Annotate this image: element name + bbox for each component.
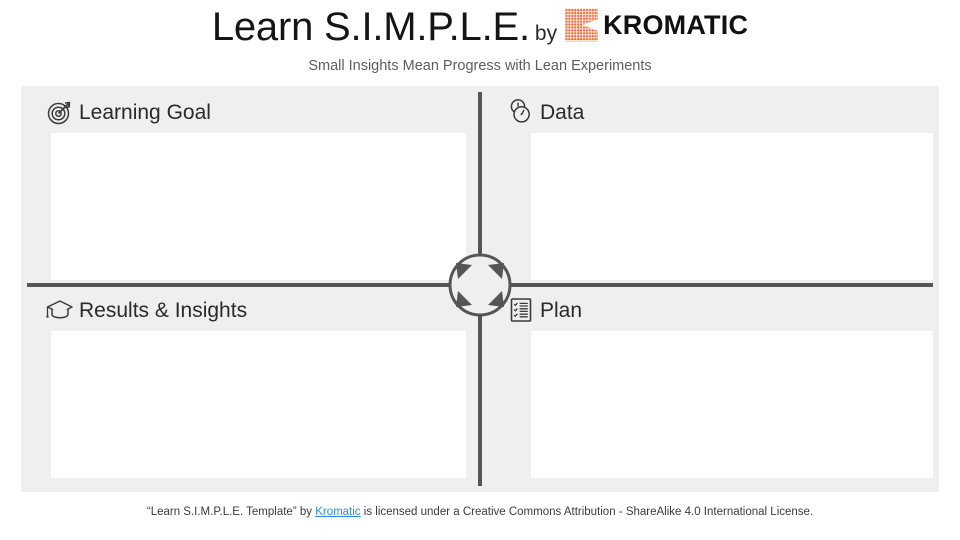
quadrant-header: Data [488, 92, 933, 132]
note-area-data[interactable] [531, 133, 933, 280]
quadrant-learning-goal: Learning Goal [27, 92, 472, 280]
title-row: Learn S.I.M.P.L.E. by [0, 6, 960, 47]
note-area-learning-goal[interactable] [51, 133, 466, 280]
quadrant-title: Results & Insights [79, 300, 247, 321]
license-text-after: is licensed under a Creative Commons Att… [361, 506, 814, 518]
page-subtitle: Small Insights Mean Progress with Lean E… [0, 58, 960, 74]
kromatic-wordmark: KROMATIC [603, 12, 748, 39]
note-area-results-insights[interactable] [51, 331, 466, 478]
quadrant-header: Results & Insights [27, 290, 472, 330]
template-canvas: Learning Goal Data [21, 86, 939, 492]
note-area-plan[interactable] [531, 331, 933, 478]
graduation-cap-icon [45, 295, 75, 325]
quadrant-title: Plan [540, 300, 582, 321]
license-footer: “Learn S.I.M.P.L.E. Template” by Kromati… [0, 506, 960, 518]
page-title: Learn S.I.M.P.L.E. [212, 7, 530, 47]
quadrant-header: Plan [488, 290, 933, 330]
kromatic-link[interactable]: Kromatic [315, 506, 360, 518]
title-by-label: by [535, 23, 557, 44]
kromatic-k-logo-icon [565, 8, 598, 42]
quadrant-data: Data [488, 92, 933, 280]
page-header: Learn S.I.M.P.L.E. by [0, 0, 960, 84]
target-arrow-icon [45, 97, 75, 127]
quadrant-title: Data [540, 102, 584, 123]
license-text-before: “Learn S.I.M.P.L.E. Template” by [147, 506, 315, 518]
cycle-arrows-icon [434, 241, 526, 329]
quadrant-plan: Plan [488, 290, 933, 486]
quadrant-results-insights: Results & Insights [27, 290, 472, 486]
kromatic-brand: KROMATIC [565, 8, 748, 42]
quadrant-title: Learning Goal [79, 102, 211, 123]
quadrant-header: Learning Goal [27, 92, 472, 132]
gauges-icon [506, 97, 536, 127]
